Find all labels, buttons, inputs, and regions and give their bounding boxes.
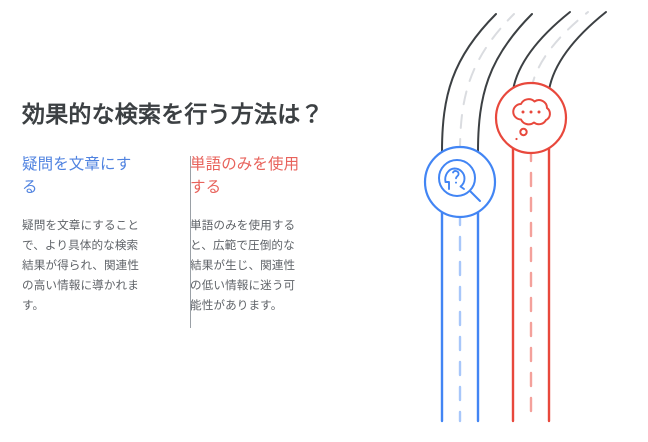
text-panel: 効果的な検索を行う方法は？ 疑問を文章にする 疑問を文章にすることで、より具体的… [22,100,382,315]
red-badge-circle [496,83,566,153]
page-title: 効果的な検索を行う方法は？ [22,100,382,130]
thought-bubble-dot-3 [538,111,541,114]
thought-bubble-dot-2 [530,111,533,114]
question-mark-dot [455,182,457,184]
blue-road-badge [425,147,495,217]
column-divider [190,156,191,328]
thought-bubble-dot-1 [522,111,525,114]
comparison-columns: 疑問を文章にする 疑問を文章にすることで、より具体的な検索結果が得られ、関連性の… [22,154,382,316]
red-road-badge [496,83,566,153]
red-road-upper-center-line [531,12,588,90]
column-body-question-sentence: 疑問を文章にすることで、より具体的な検索結果が得られ、関連性の高い情報に導かれま… [22,216,146,316]
column-heading-question-sentence: 疑問を文章にする [22,154,146,200]
column-question-sentence: 疑問を文章にする 疑問を文章にすることで、より具体的な検索結果が得られ、関連性の… [22,154,162,316]
thought-bubble-tiny-tail [515,138,517,140]
blue-badge-circle [425,147,495,217]
two-roads-illustration [400,0,648,442]
red-road-lower-segment [513,148,549,421]
column-heading-keywords-only: 単語のみを使用する [190,154,302,200]
slide-canvas: 効果的な検索を行う方法は？ 疑問を文章にする 疑問を文章にすることで、より具体的… [0,0,648,442]
blue-road-lower-segment [442,212,478,421]
red-road-upper-segment [513,12,606,90]
column-body-keywords-only: 単語のみを使用すると、広範で圧倒的な結果が生じ、関連性の低い情報に迷う可能性があ… [190,216,302,316]
column-keywords-only: 単語のみを使用する 単語のみを使用すると、広範で圧倒的な結果が生じ、関連性の低い… [162,154,302,316]
